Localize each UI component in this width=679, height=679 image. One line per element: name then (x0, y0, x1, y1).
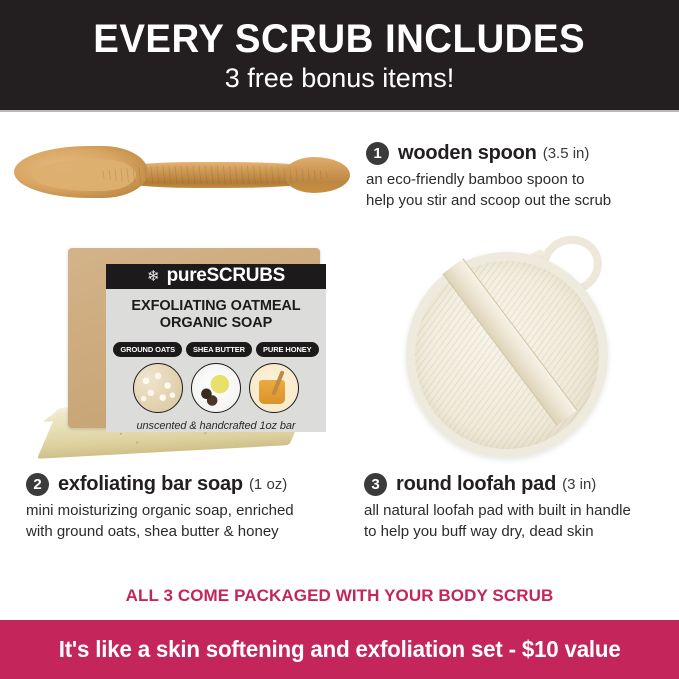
item-1-title: wooden spoon (398, 142, 537, 165)
soap-brand-name: pureSCRUBS (167, 265, 285, 287)
item-3-description-line-2: to help you buff way dry, dead skin (364, 522, 679, 543)
soap-kraft-wrapper: ❄ pureSCRUBS EXFOLIATING OATMEAL ORGANIC… (68, 248, 320, 428)
item-2-size: (1 oz) (249, 476, 287, 493)
soap-product-name-line-2: ORGANIC SOAP (131, 315, 300, 333)
loofah-pad-image (398, 234, 634, 466)
item-2-description-line-2: with ground oats, shea butter & honey (26, 522, 346, 543)
item-1-description: an eco-friendly bamboo spoon to help you… (366, 170, 676, 211)
soap-badge-shea-butter: SHEA BUTTER (186, 342, 252, 357)
item-3-title: round loofah pad (396, 473, 556, 496)
header-subtitle: 3 free bonus items! (225, 65, 455, 92)
spoon-wood-grain (98, 166, 328, 184)
soap-ingredient-badges: GROUND OATS SHEA BUTTER PURE HONEY (113, 342, 318, 357)
soap-brand-bar: ❄ pureSCRUBS (106, 264, 326, 289)
item-1-heading: 1 wooden spoon (3.5 in) (366, 142, 676, 165)
soap-product-label: ❄ pureSCRUBS EXFOLIATING OATMEAL ORGANIC… (106, 264, 326, 432)
shea-butter-photo (191, 363, 241, 413)
pure-honey-photo (249, 363, 299, 413)
item-2-text-block: 2 exfoliating bar soap (1 oz) mini moist… (26, 473, 346, 542)
soap-badge-ground-oats: GROUND OATS (113, 342, 182, 357)
item-1-description-line-1: an eco-friendly bamboo spoon to (366, 170, 676, 191)
item-1-number-badge: 1 (366, 142, 389, 165)
mandala-ornament-icon: ❄ (147, 269, 160, 284)
item-3-heading: 3 round loofah pad (3 in) (364, 473, 679, 496)
soap-product-name-line-1: EXFOLIATING OATMEAL (131, 298, 300, 316)
item-2-heading: 2 exfoliating bar soap (1 oz) (26, 473, 346, 496)
soap-bar-image: ❄ pureSCRUBS EXFOLIATING OATMEAL ORGANIC… (46, 238, 336, 460)
item-3-description-line-1: all natural loofah pad with built in han… (364, 501, 679, 522)
header-banner: EVERY SCRUB INCLUDES 3 free bonus items! (0, 0, 679, 110)
item-3-number-badge: 3 (364, 473, 387, 496)
item-1-row: 1 wooden spoon (3.5 in) an eco-friendly … (0, 118, 679, 228)
bamboo-spoon-image (8, 140, 352, 202)
soap-ingredient-photos (133, 363, 299, 413)
item-2-title: exfoliating bar soap (58, 473, 243, 496)
value-banner: It's like a skin softening and exfoliati… (0, 620, 679, 679)
item-1-description-line-2: help you stir and scoop out the scrub (366, 191, 676, 212)
items-2-3-caption-row: 2 exfoliating bar soap (1 oz) mini moist… (0, 473, 679, 568)
item-1-text-block: 1 wooden spoon (3.5 in) an eco-friendly … (366, 142, 676, 211)
header-title: EVERY SCRUB INCLUDES (94, 19, 586, 59)
item-2-description-line-1: mini moisturizing organic soap, enriched (26, 501, 346, 522)
item-2-number-badge: 2 (26, 473, 49, 496)
packaged-note: ALL 3 COME PACKAGED WITH YOUR BODY SCRUB (0, 586, 679, 606)
product-images-row: ❄ pureSCRUBS EXFOLIATING OATMEAL ORGANIC… (0, 230, 679, 470)
item-1-size: (3.5 in) (543, 145, 590, 162)
soap-product-name: EXFOLIATING OATMEAL ORGANIC SOAP (131, 298, 300, 333)
header-divider (0, 110, 679, 112)
soap-tagline: unscented & handcrafted 1oz bar (137, 420, 296, 432)
item-2-description: mini moisturizing organic soap, enriched… (26, 501, 346, 542)
item-3-size: (3 in) (562, 476, 596, 493)
soap-badge-pure-honey: PURE HONEY (256, 342, 319, 357)
item-3-text-block: 3 round loofah pad (3 in) all natural lo… (364, 473, 679, 542)
ground-oats-photo (133, 363, 183, 413)
item-3-description: all natural loofah pad with built in han… (364, 501, 679, 542)
value-banner-text: It's like a skin softening and exfoliati… (59, 636, 621, 663)
